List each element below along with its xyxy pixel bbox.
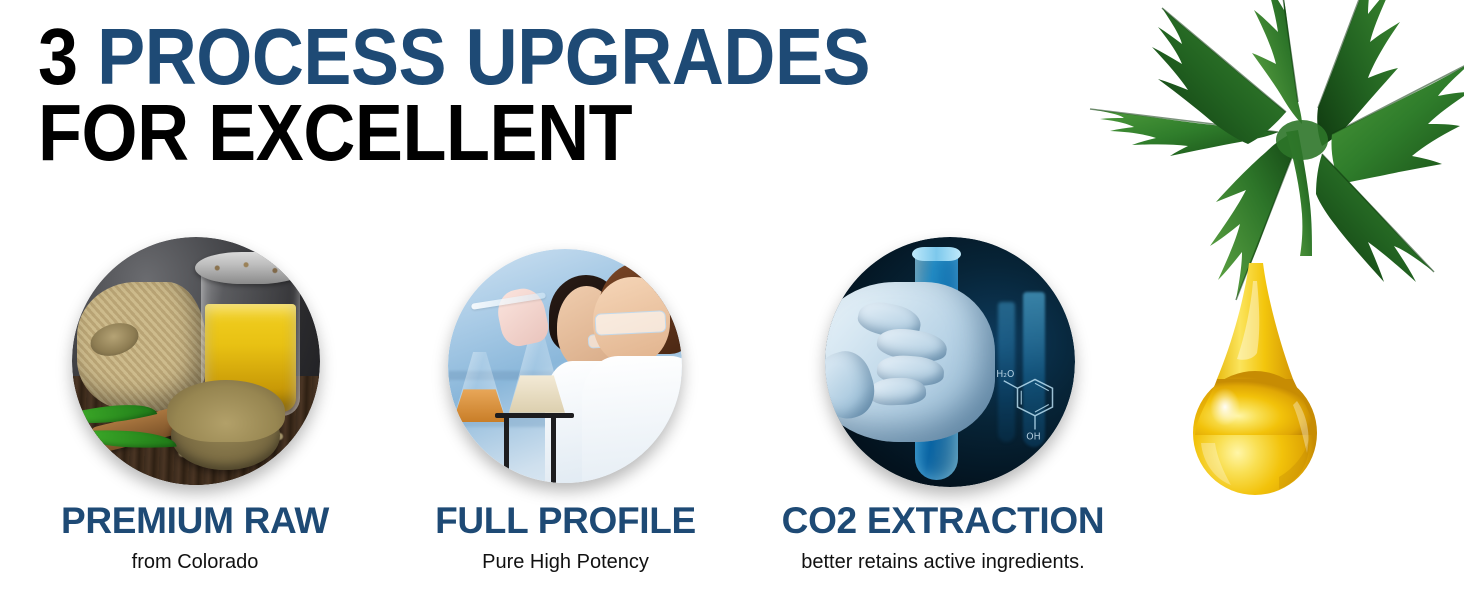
lab-stand-leg (504, 417, 509, 483)
gloved-hand-icon (825, 282, 995, 442)
feature-subtitle: Pure High Potency (398, 551, 733, 574)
chem-label-bottom: OH (1026, 432, 1040, 443)
promo-banner: 3 PROCESS UPGRADES FOR EXCELLENT (0, 0, 1464, 600)
lab-coat (582, 356, 682, 483)
feature-title: PREMIUM RAW (0, 500, 390, 542)
chemical-structure-icon: H₂O OH (995, 367, 1060, 442)
feature-title: FULL PROFILE (398, 500, 733, 542)
lab-stand-leg (551, 417, 556, 483)
headline-line-2: FOR EXCELLENT (38, 98, 902, 168)
feature-subtitle: better retains active ingredients. (733, 551, 1153, 574)
headline-line-1: 3 PROCESS UPGRADES (38, 22, 902, 92)
chem-label-top: H₂O (996, 369, 1014, 380)
feature-image-full-profile-inner (448, 249, 682, 483)
thumb (825, 345, 882, 426)
feature-title: CO2 EXTRACTION (733, 500, 1153, 542)
feature-caption-full-profile: FULL PROFILE Pure High Potency (398, 500, 733, 574)
oil-droplet-icon (1175, 255, 1335, 525)
scientist-foreground-icon (588, 272, 682, 483)
feature-image-premium-raw (72, 237, 320, 485)
feature-image-premium-raw-inner (72, 237, 320, 485)
headline: 3 PROCESS UPGRADES FOR EXCELLENT (38, 22, 998, 169)
hemp-powder-icon (167, 380, 285, 442)
feature-caption-co2-extraction: CO2 EXTRACTION better retains active ing… (733, 500, 1153, 574)
safety-goggles-icon (594, 310, 666, 336)
finger (869, 377, 927, 406)
feature-image-co2-extraction-inner: H₂O OH (825, 237, 1075, 487)
jar-lid-icon (195, 252, 306, 284)
feature-image-co2-extraction: H₂O OH (825, 237, 1075, 487)
feature-image-full-profile (448, 249, 682, 483)
wooden-spoon-bowl (171, 401, 280, 470)
cannabis-leaf-icon (1050, 0, 1464, 312)
sack-opening (87, 318, 143, 361)
test-tube-rim (912, 247, 961, 261)
feature-subtitle: from Colorado (0, 551, 390, 574)
feature-caption-premium-raw: PREMIUM RAW from Colorado (0, 500, 390, 574)
